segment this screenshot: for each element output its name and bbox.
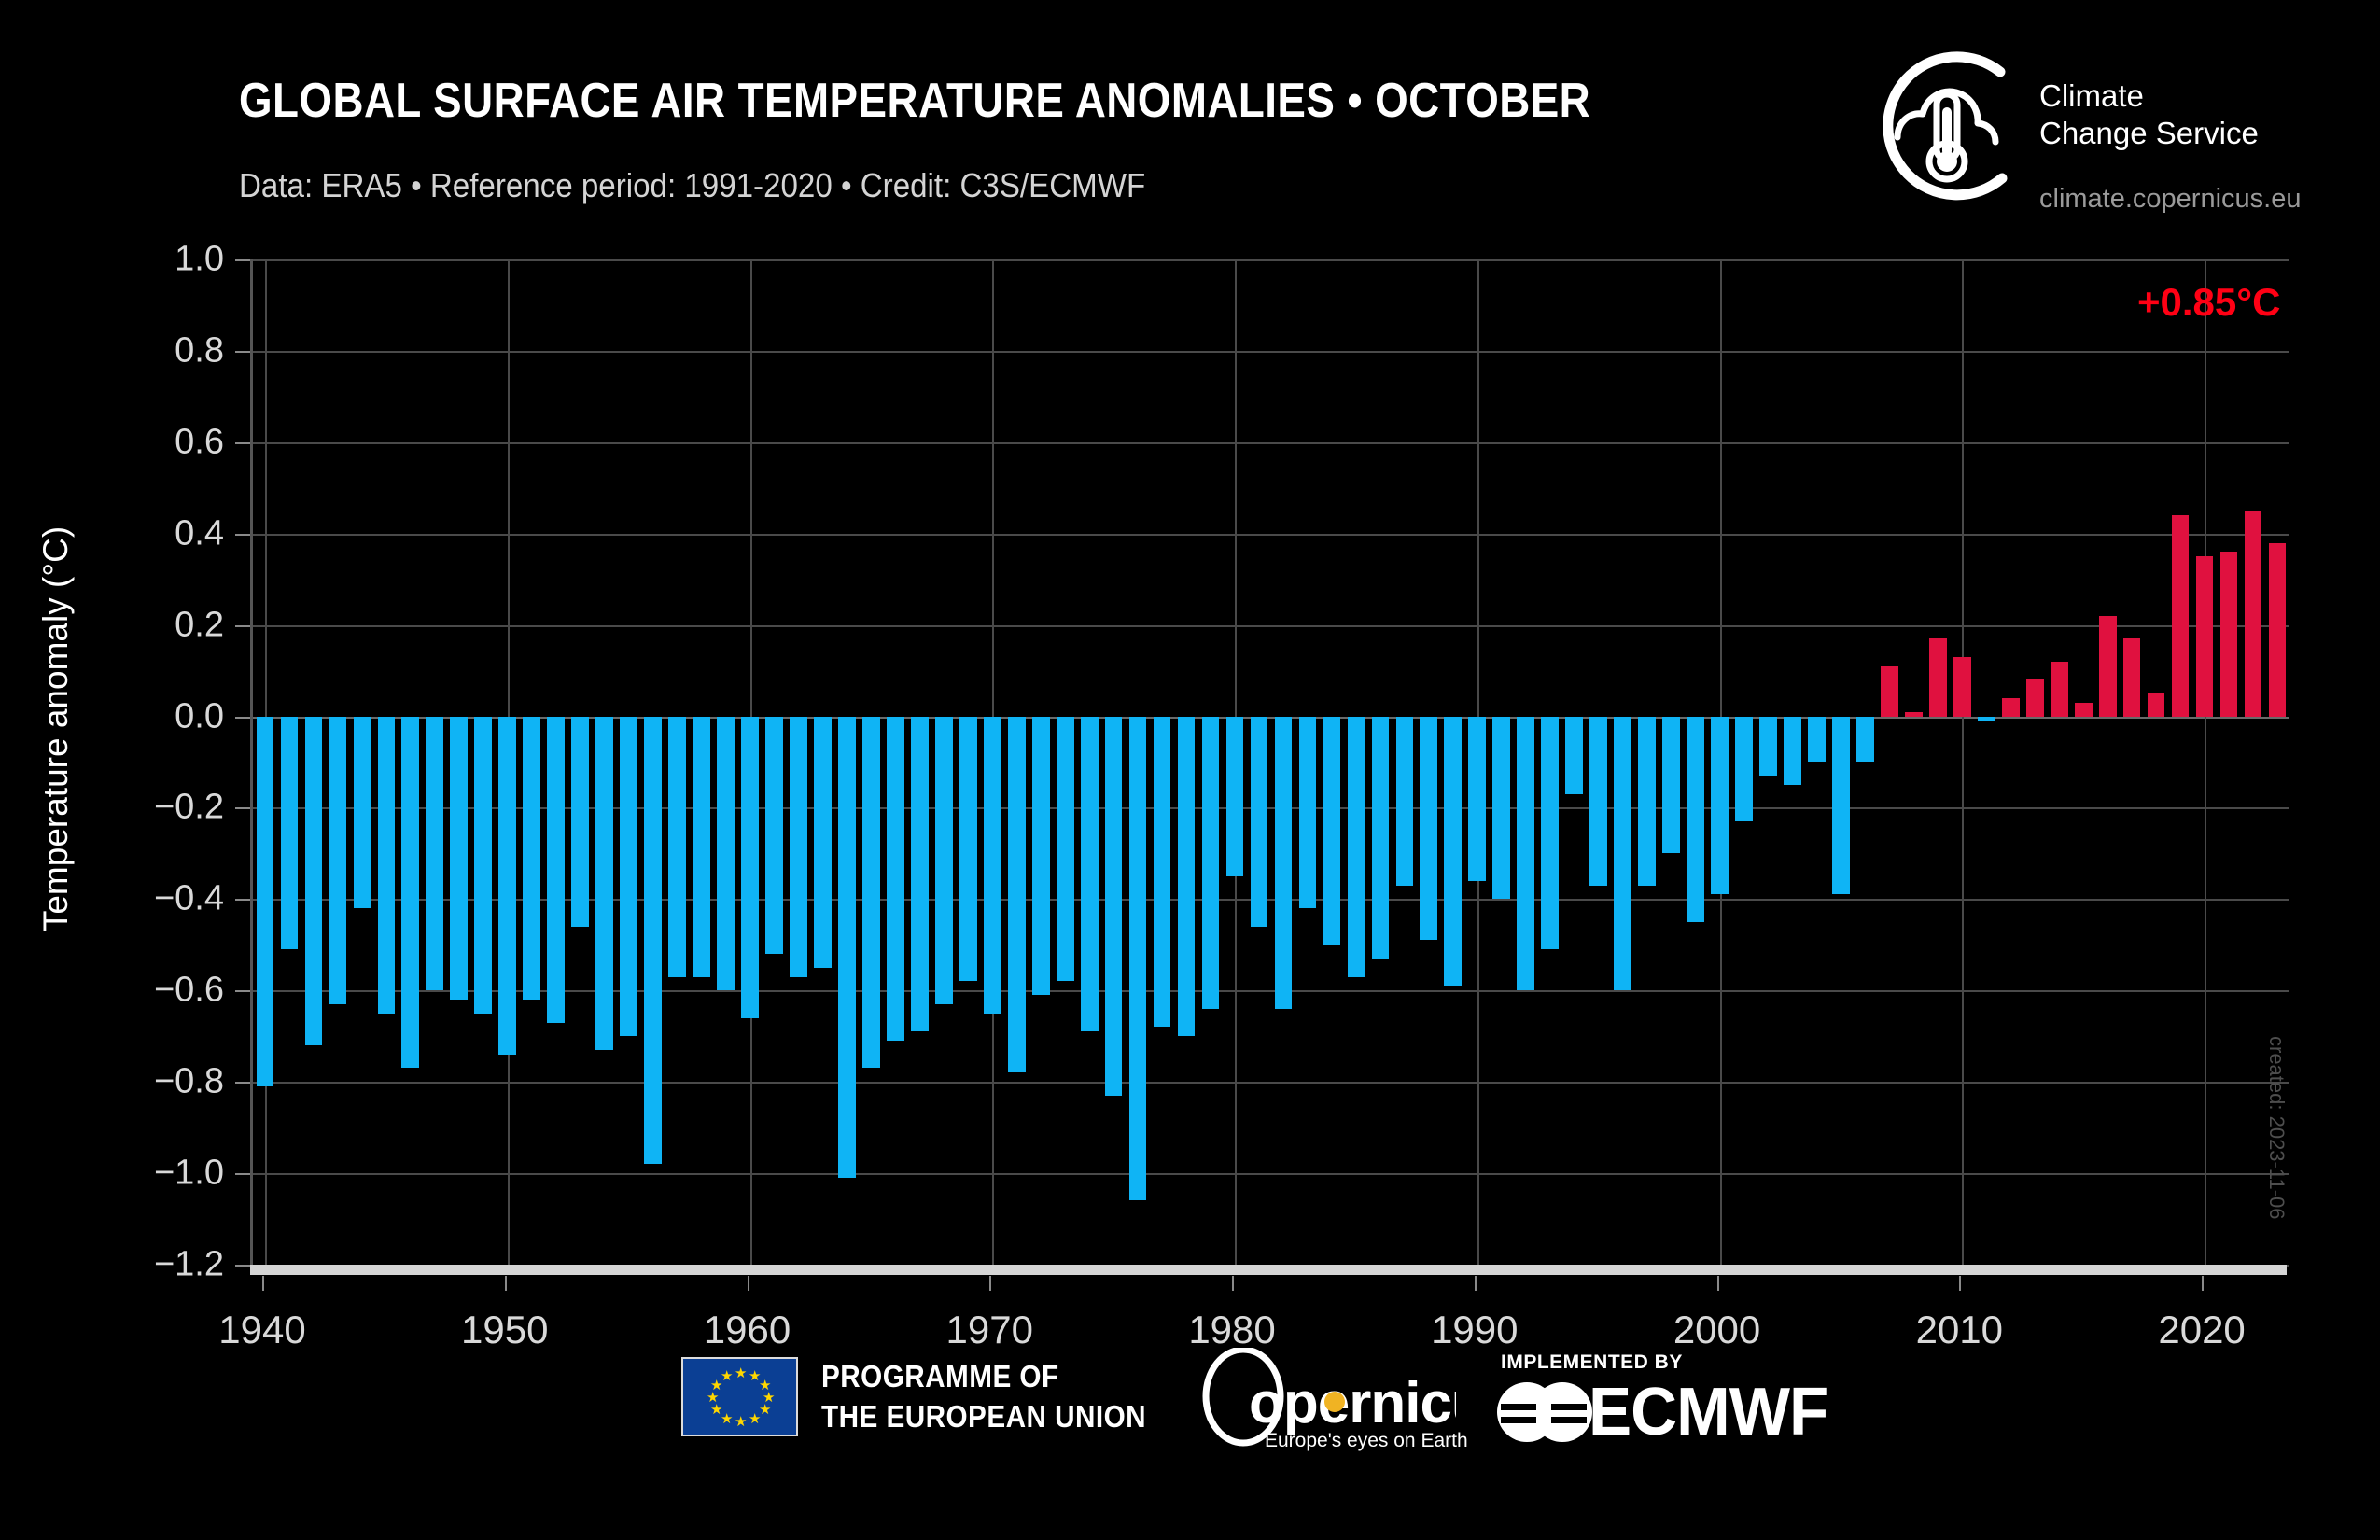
bar-1960: [741, 717, 759, 1018]
eu-star-icon: ★: [721, 1369, 733, 1383]
y-tick-mark: [235, 534, 250, 536]
x-tick-mark: [2202, 1276, 2204, 1291]
bar-1970: [984, 717, 1001, 1014]
bar-1964: [838, 717, 856, 1178]
bar-1987: [1396, 717, 1414, 886]
bar-series: [253, 259, 2289, 1265]
eu-star-icon: ★: [735, 1366, 747, 1380]
y-tick-label: −0.4: [154, 879, 224, 919]
bar-2008: [1905, 712, 1923, 717]
bar-1950: [498, 717, 516, 1055]
eu-programme-line2: THE EUROPEAN UNION: [821, 1397, 1146, 1437]
y-tick-label: −0.2: [154, 788, 224, 828]
bar-1968: [935, 717, 953, 1004]
y-tick-label: 0.8: [175, 330, 224, 371]
bar-1981: [1251, 717, 1268, 927]
bar-1967: [911, 717, 929, 1032]
y-tick-mark: [235, 1265, 250, 1267]
bar-2014: [2051, 662, 2068, 717]
bar-1999: [1687, 717, 1704, 922]
bar-1965: [862, 717, 880, 1069]
bar-1945: [378, 717, 396, 1014]
x-tick-mark: [1232, 1276, 1234, 1291]
bar-1971: [1008, 717, 1026, 1073]
bar-1991: [1492, 717, 1510, 900]
y-tick-mark: [235, 1173, 250, 1175]
bar-2004: [1808, 717, 1826, 763]
y-tick-label: 0.2: [175, 605, 224, 645]
bar-1963: [814, 717, 832, 968]
y-tick-mark: [235, 351, 250, 353]
bar-1943: [329, 717, 347, 1004]
eu-flag-icon: ★★★★★★★★★★★★: [681, 1357, 798, 1436]
bar-1957: [668, 717, 686, 977]
bar-2001: [1735, 717, 1753, 822]
y-tick-mark: [235, 259, 250, 261]
bar-1992: [1517, 717, 1534, 991]
bar-2006: [1856, 717, 1874, 763]
y-tick-label: −0.8: [154, 1062, 224, 1102]
x-tick-mark: [1959, 1276, 1961, 1291]
bar-1944: [354, 717, 371, 909]
x-tick-mark: [262, 1276, 264, 1291]
x-tick-mark: [1475, 1276, 1477, 1291]
bar-1978: [1178, 717, 1196, 1037]
chart-footer: ★★★★★★★★★★★★ PROGRAMME OF THE EUROPEAN U…: [0, 1344, 2380, 1475]
y-tick-label: −1.0: [154, 1154, 224, 1194]
bar-1947: [426, 717, 443, 991]
bar-2009: [1929, 638, 1947, 716]
y-tick-mark: [235, 442, 250, 444]
bar-1972: [1032, 717, 1050, 996]
y-tick-mark: [235, 625, 250, 627]
y-axis-label: Temperature anomaly (°C): [36, 262, 76, 1196]
bar-1959: [717, 717, 735, 991]
bar-1984: [1323, 717, 1341, 945]
bar-1948: [450, 717, 468, 1001]
bar-1956: [644, 717, 662, 1165]
eu-programme-line1: PROGRAMME OF: [821, 1357, 1146, 1397]
bar-1986: [1372, 717, 1390, 959]
bar-1977: [1154, 717, 1171, 1028]
bar-2017: [2123, 638, 2141, 716]
bar-1985: [1348, 717, 1365, 977]
y-tick-mark: [235, 1082, 250, 1084]
y-tick-mark: [235, 717, 250, 719]
bar-1958: [693, 717, 710, 977]
bar-2007: [1881, 666, 1898, 717]
x-tick-mark: [505, 1276, 507, 1291]
chart-plot-area: Temperature anomaly (°C) 1.00.80.60.40.2…: [0, 0, 2380, 1540]
bar-1988: [1420, 717, 1437, 941]
bar-1966: [887, 717, 904, 1042]
eu-star-icon: ★: [735, 1415, 747, 1429]
plot-canvas: [250, 259, 2287, 1265]
bar-1980: [1226, 717, 1244, 876]
bar-1982: [1275, 717, 1293, 1009]
bar-2019: [2172, 515, 2190, 716]
bar-1969: [959, 717, 977, 982]
y-tick-label: −0.6: [154, 971, 224, 1011]
bar-1955: [620, 717, 637, 1037]
bar-1973: [1057, 717, 1074, 982]
y-tick-label: 0.4: [175, 513, 224, 553]
bar-1976: [1129, 717, 1147, 1201]
bar-1983: [1299, 717, 1317, 909]
bar-2012: [2002, 698, 2020, 717]
bar-1998: [1662, 717, 1680, 854]
copernicus-tagline: Europe's eyes on Earth: [1265, 1430, 1468, 1452]
bar-2002: [1759, 717, 1777, 777]
bar-2022: [2245, 511, 2262, 716]
bar-2020: [2196, 556, 2214, 716]
bar-1989: [1444, 717, 1462, 987]
bar-1990: [1468, 717, 1486, 881]
bar-1940: [257, 717, 274, 1087]
bar-1953: [571, 717, 589, 927]
bar-2021: [2220, 552, 2238, 716]
bar-2023: [2269, 543, 2287, 717]
eu-star-icon: ★: [749, 1412, 761, 1426]
y-tick-mark: [235, 990, 250, 992]
bar-2011: [1978, 717, 1995, 721]
y-tick-mark: [235, 807, 250, 809]
bar-1974: [1081, 717, 1099, 1032]
bar-2015: [2075, 703, 2093, 717]
bar-2010: [1953, 657, 1971, 717]
bar-1949: [474, 717, 492, 1014]
bar-1975: [1105, 717, 1123, 1096]
y-tick-label: −1.2: [154, 1245, 224, 1285]
bar-1993: [1541, 717, 1559, 950]
ecmwf-mark-icon: [1493, 1379, 1596, 1445]
bar-1954: [595, 717, 613, 1050]
bar-1946: [401, 717, 419, 1069]
x-tick-mark: [1717, 1276, 1719, 1291]
bar-2000: [1711, 717, 1729, 895]
created-date-label: created: 2023-11-06: [2264, 1036, 2289, 1220]
y-tick-mark: [235, 899, 250, 901]
bar-1942: [305, 717, 323, 1045]
bar-2013: [2026, 679, 2044, 716]
ecmwf-wordmark: ECMWF: [1589, 1374, 1827, 1450]
x-tick-mark: [748, 1276, 749, 1291]
bar-1962: [790, 717, 807, 977]
x-axis-line: [250, 1265, 2287, 1275]
bar-1994: [1565, 717, 1583, 794]
x-tick-mark: [989, 1276, 991, 1291]
y-tick-label: 1.0: [175, 240, 224, 280]
bar-2003: [1784, 717, 1801, 785]
implemented-by-label: IMPLEMENTED BY: [1501, 1351, 1683, 1374]
bar-2018: [2148, 693, 2165, 716]
svg-text:opernicus: opernicus: [1249, 1371, 1456, 1435]
bar-2005: [1832, 717, 1850, 895]
bar-2016: [2099, 616, 2117, 717]
bar-1941: [281, 717, 299, 950]
y-tick-label: 0.6: [175, 422, 224, 462]
bar-1952: [547, 717, 565, 1023]
bar-1995: [1589, 717, 1607, 886]
bar-1951: [523, 717, 540, 1001]
y-tick-label: 0.0: [175, 696, 224, 736]
bar-1961: [765, 717, 783, 955]
bar-1997: [1638, 717, 1656, 886]
bar-1979: [1202, 717, 1220, 1009]
latest-value-annotation: +0.85°C: [2137, 280, 2280, 325]
bar-1996: [1614, 717, 1631, 991]
